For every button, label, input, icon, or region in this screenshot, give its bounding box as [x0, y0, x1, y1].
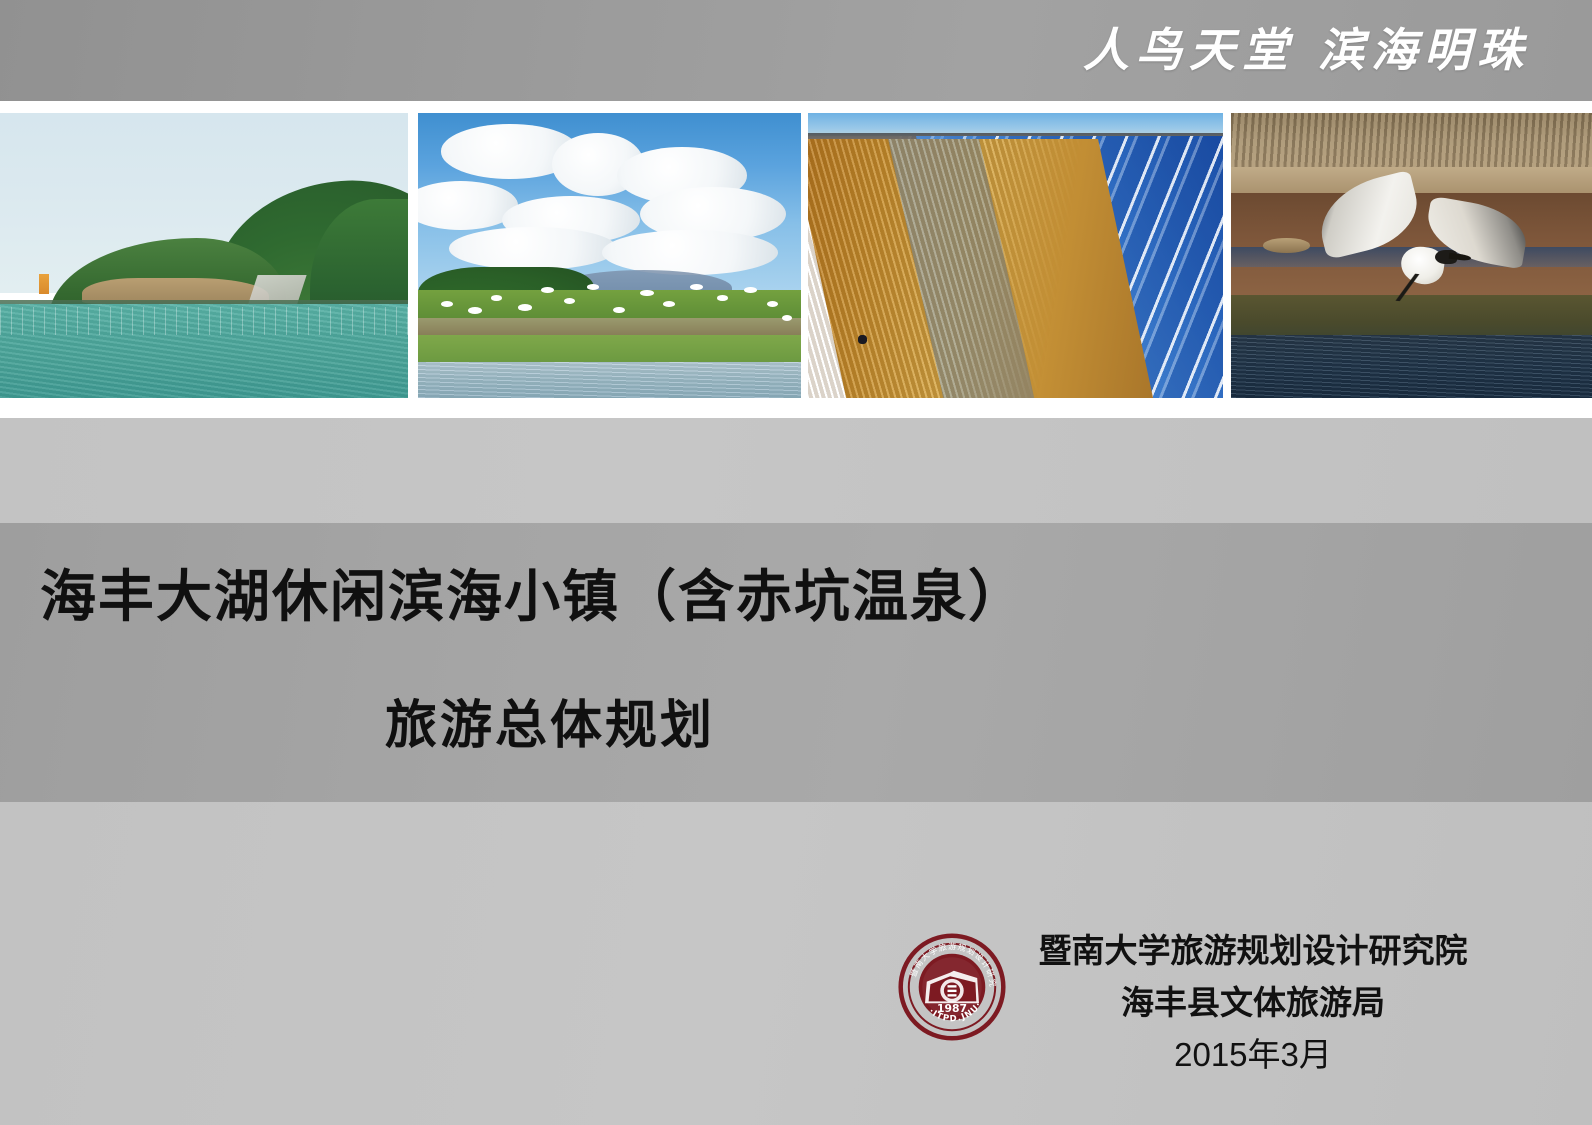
institute-seal-icon: 暨南大学旅游规划设计研究院 ·ITPD.JNU· 1987 [898, 933, 1006, 1041]
photo-lake-hills [0, 113, 408, 398]
egret-bird [640, 290, 654, 297]
photo-wetland-egrets [418, 113, 801, 398]
header-white-gap [0, 101, 1592, 113]
photo-beach-waves [808, 113, 1223, 398]
egret-bird [782, 315, 792, 321]
header-tagline: 人鸟天堂 滨海明珠 [1083, 14, 1530, 80]
seal-year-text: 1987 [937, 1002, 967, 1015]
footer-institute-name: 暨南大学旅游规划设计研究院 [1018, 925, 1488, 977]
spoonbill-legs [1388, 271, 1427, 303]
footer-block: 暨南大学旅游规划设计研究院 ·ITPD.JNU· 1987 暨南大学旅游规划设计… [890, 925, 1510, 1100]
water-ripple-texture [1231, 335, 1592, 398]
egret-bird [518, 304, 533, 311]
footer-text-lines: 暨南大学旅游规划设计研究院 海丰县文体旅游局 2015年3月 [1018, 925, 1488, 1081]
egret-bird [541, 287, 554, 293]
egret-bird [613, 307, 624, 313]
photo-spoonbill-flight [1231, 113, 1592, 398]
egret-bird [587, 284, 599, 290]
beach-figure [858, 335, 867, 344]
photo-2-scene [418, 113, 801, 398]
presentation-slide: 人鸟天堂 滨海明珠 [0, 0, 1592, 1125]
photo-4-scene [1231, 113, 1592, 398]
header-band: 人鸟天堂 滨海明珠 [0, 0, 1592, 101]
footer-bureau-name: 海丰县文体旅游局 [1018, 977, 1488, 1029]
egret-bird [468, 307, 482, 314]
strip-white-gap [0, 398, 1592, 418]
photo-strip [0, 113, 1592, 398]
sand-ripple-texture [808, 139, 1099, 398]
marsh-grass-far [418, 290, 801, 321]
title-band: 海丰大湖休闲滨海小镇（含赤坑温泉） 旅游总体规划 [0, 523, 1592, 802]
pond-reflection [418, 362, 801, 398]
marsh-grass-near [418, 335, 801, 364]
building-shape [39, 274, 50, 294]
algae-band [1231, 295, 1592, 341]
footer-date: 2015年3月 [1018, 1029, 1488, 1081]
cloud-shape [449, 227, 618, 270]
rock-cluster [1263, 238, 1310, 252]
photo-3-scene [808, 113, 1223, 398]
upper-gray-band [0, 418, 1592, 523]
slide-title-main: 海丰大湖休闲滨海小镇（含赤坑温泉） [40, 567, 1026, 629]
cloud-shape [602, 230, 778, 276]
slide-title-sub: 旅游总体规划 [385, 683, 715, 758]
egret-bird [744, 287, 757, 293]
fish-stakes [0, 307, 408, 336]
egret-bird [767, 301, 778, 307]
photo-1-scene [0, 113, 408, 398]
